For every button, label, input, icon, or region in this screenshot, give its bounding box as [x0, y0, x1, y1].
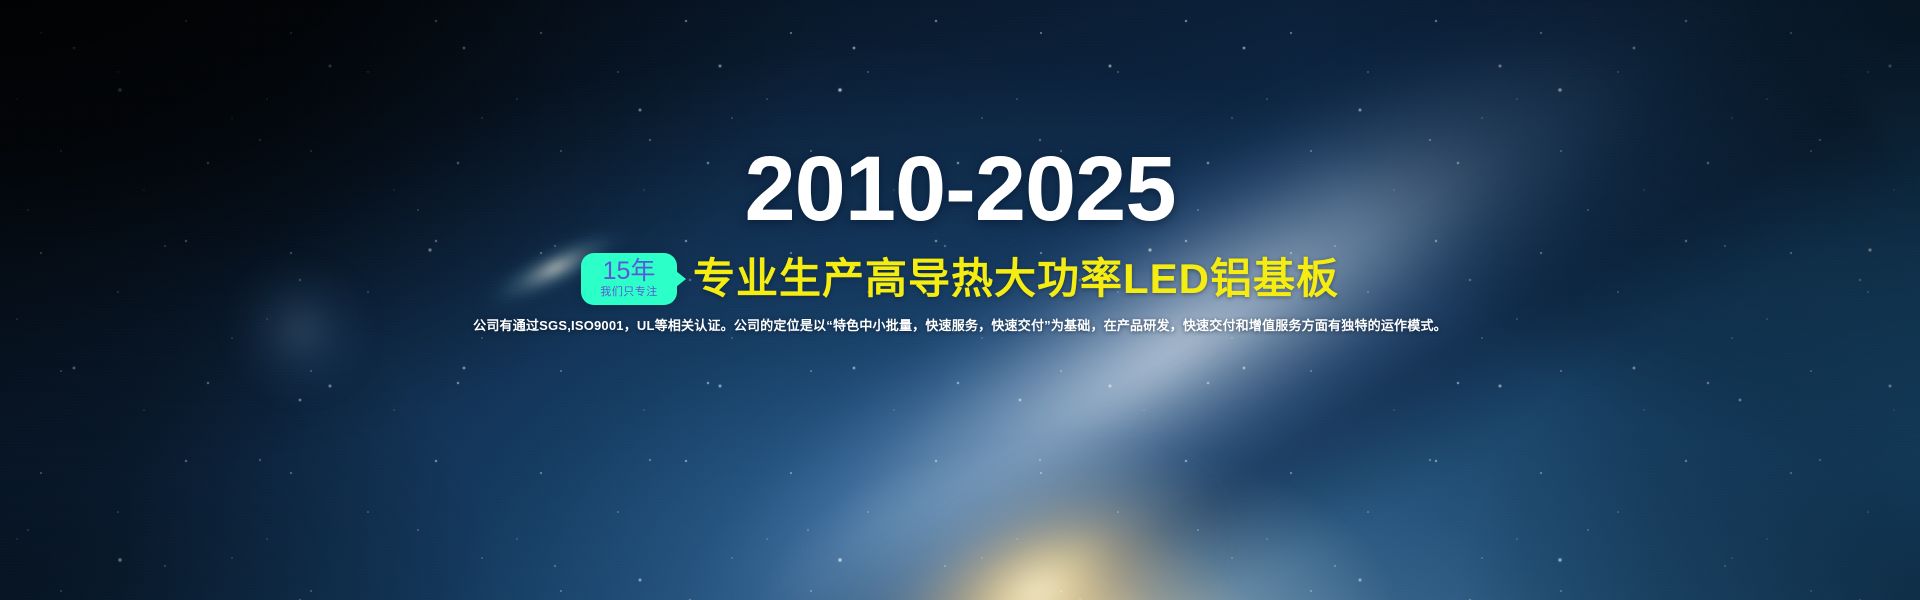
badge-slogan-label: 我们只专注: [600, 286, 658, 299]
badge-years-label: 15年: [603, 259, 656, 285]
year-range-title: 2010-2025: [0, 143, 1920, 235]
hero-banner: 2010-2025 15年 我们只专注 专业生产高导热大功率LED铝基板 公司有…: [0, 0, 1920, 600]
banner-content: 2010-2025 15年 我们只专注 专业生产高导热大功率LED铝基板 公司有…: [0, 0, 1920, 600]
headline-text: 专业生产高导热大功率LED铝基板: [693, 258, 1339, 300]
anniversary-badge: 15年 我们只专注: [581, 253, 677, 305]
headline-row: 15年 我们只专注 专业生产高导热大功率LED铝基板: [0, 253, 1920, 305]
description-text: 公司有通过SGS,ISO9001，UL等相关认证。公司的定位是以“特色中小批量，…: [0, 316, 1920, 336]
